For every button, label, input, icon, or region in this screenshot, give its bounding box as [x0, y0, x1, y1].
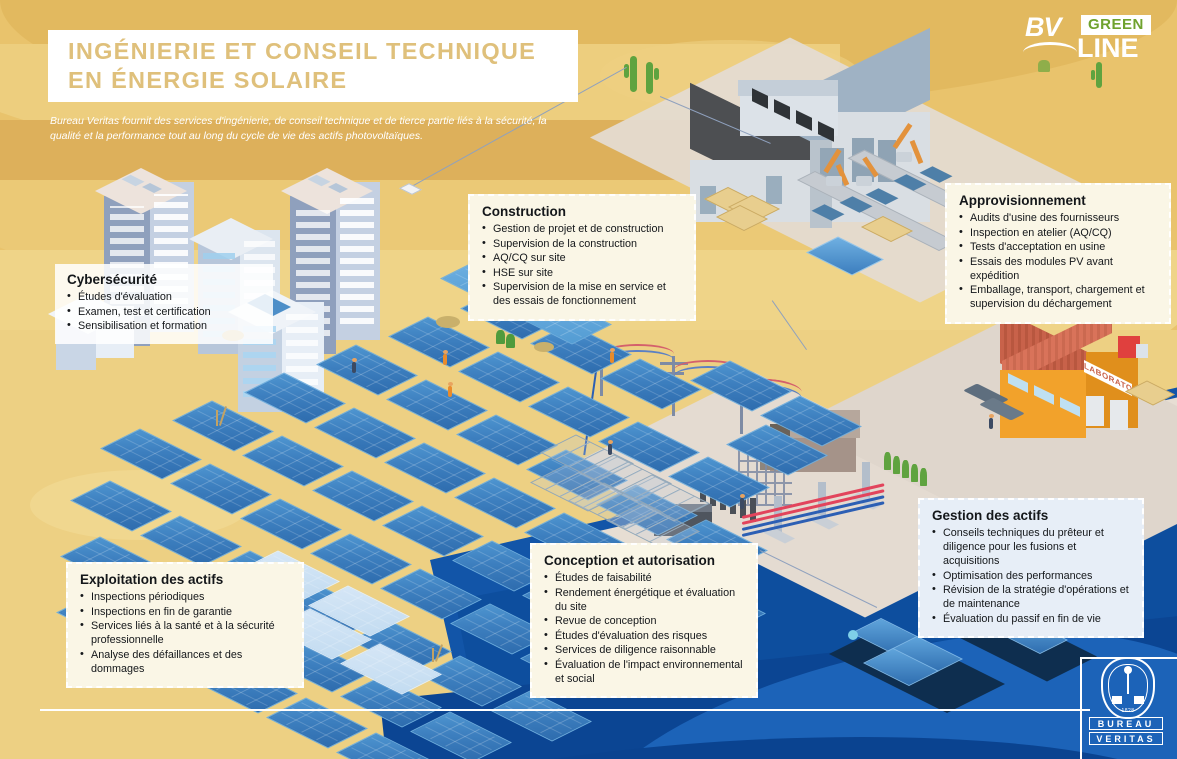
page-subtitle: Bureau Veritas fournit des services d'in…	[50, 114, 570, 144]
bvgl-swoosh-icon	[1023, 42, 1077, 63]
card-list-item: Rendement énergétique et évaluation du s…	[544, 586, 744, 614]
footer-rule	[40, 709, 1090, 711]
card-title: Construction	[482, 204, 682, 219]
card-title: Gestion des actifs	[932, 508, 1130, 523]
bvgl-green-text: GREEN	[1081, 15, 1151, 35]
callout-card-construction[interactable]: Construction Gestion de projet et de con…	[468, 194, 696, 321]
bv-green-line-logo: BV GREEN LINE	[1019, 12, 1169, 64]
card-list-item: Revue de conception	[544, 614, 744, 628]
card-list: Conseils techniques du prêteur et dilige…	[932, 526, 1130, 626]
card-list-item: Supervision de la mise en service et des…	[482, 280, 682, 308]
card-list-item: Services de diligence raisonnable	[544, 643, 744, 657]
card-list-item: AQ/CQ sur site	[482, 251, 682, 265]
card-title: Cybersécurité	[67, 272, 261, 287]
card-list-item: Révision de la stratégie d'opérations et…	[932, 583, 1130, 611]
card-list-item: Analyse des défaillances et des dommages	[80, 648, 290, 676]
card-list: Études de faisabilitéRendement énergétiq…	[544, 571, 744, 686]
card-list-item: Études de faisabilité	[544, 571, 744, 585]
bv-word-veritas: VERITAS	[1089, 732, 1163, 745]
card-list-item: Sensibilisation et formation	[67, 319, 261, 333]
card-list: Inspections périodiquesInspections en fi…	[80, 590, 290, 676]
bv-emblem-icon: 1828	[1101, 657, 1155, 719]
card-list-item: Audits d'usine des fournisseurs	[959, 211, 1157, 225]
card-title: Approvisionnement	[959, 193, 1157, 208]
infographic-canvas: LABORATORY	[0, 0, 1177, 759]
callout-card-gestion-des-actifs[interactable]: Gestion des actifs Conseils techniques d…	[918, 498, 1144, 638]
card-list: Études d'évaluationExamen, test et certi…	[67, 290, 261, 333]
card-list-item: Études d'évaluation	[67, 290, 261, 304]
card-list-item: Évaluation du passif en fin de vie	[932, 612, 1130, 626]
card-list-item: HSE sur site	[482, 266, 682, 280]
card-list-item: Essais des modules PV avant expédition	[959, 255, 1157, 283]
card-list-item: Conseils techniques du prêteur et dilige…	[932, 526, 1130, 568]
card-title: Exploitation des actifs	[80, 572, 290, 587]
card-list-item: Inspection en atelier (AQ/CQ)	[959, 226, 1157, 240]
bv-emblem-year: 1828	[1103, 708, 1153, 714]
callout-card-cybersecurite[interactable]: Cybersécurité Études d'évaluationExamen,…	[55, 264, 273, 344]
card-list-item: Études d'évaluation des risques	[544, 629, 744, 643]
callout-card-exploitation-des-actifs[interactable]: Exploitation des actifs Inspections péri…	[66, 562, 304, 688]
bv-word-bureau: BUREAU	[1089, 717, 1163, 730]
card-list-item: Optimisation des performances	[932, 569, 1130, 583]
bvgl-bv-text: BV	[1025, 12, 1061, 43]
card-list: Gestion de projet et de constructionSupe…	[482, 222, 682, 308]
card-list-item: Tests d'acceptation en usine	[959, 240, 1157, 254]
card-list-item: Supervision de la construction	[482, 237, 682, 251]
card-list-item: Gestion de projet et de construction	[482, 222, 682, 236]
bureau-veritas-logo: 1828 BUREAU VERITAS	[1087, 655, 1165, 747]
card-list-item: Examen, test et certification	[67, 305, 261, 319]
title-box: INGÉNIERIE ET CONSEIL TECHNIQUE EN ÉNERG…	[48, 30, 578, 102]
card-list-item: Inspections en fin de garantie	[80, 605, 290, 619]
card-list-item: Services liés à la santé et à la sécurit…	[80, 619, 290, 647]
bvgl-line-text: LINE	[1077, 33, 1139, 64]
page-title: INGÉNIERIE ET CONSEIL TECHNIQUE EN ÉNERG…	[48, 37, 536, 94]
card-list: Audits d'usine des fournisseursInspectio…	[959, 211, 1157, 311]
card-title: Conception et autorisation	[544, 553, 744, 568]
callout-card-approvisionnement[interactable]: Approvisionnement Audits d'usine des fou…	[945, 183, 1171, 324]
card-list-item: Emballage, transport, chargement et supe…	[959, 283, 1157, 311]
callout-card-conception-et-autorisation[interactable]: Conception et autorisation Études de fai…	[530, 543, 758, 698]
card-list-item: Inspections périodiques	[80, 590, 290, 604]
card-list-item: Évaluation de l'impact environnemental e…	[544, 658, 744, 686]
